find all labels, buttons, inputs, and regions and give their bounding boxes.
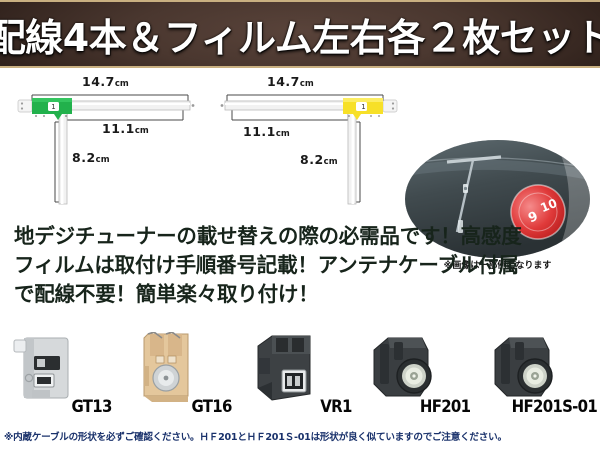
left-dim-top-unit: cm (115, 79, 129, 89)
right-dim-mid: 11.1cm (243, 124, 290, 139)
svg-text:1: 1 (51, 103, 55, 111)
hf201s01-connector-icon (491, 332, 565, 404)
right-dim-mid-value: 11.1 (243, 124, 276, 139)
hf201-label: HF201 (420, 397, 470, 417)
vr1-connector-icon (252, 332, 326, 404)
product-description: 地デジチューナーの載せ替えの際の必需品です！高感度 フィルムは取付け手順番号記載… (14, 222, 590, 309)
connector-vr1: VR1 (248, 330, 348, 425)
description-line-3: で配線不要！簡単楽々取り付け！ (14, 280, 590, 309)
right-dim-top-value: 14.7 (267, 74, 300, 89)
connector-hf201: HF201 (366, 330, 466, 425)
connector-hf201s01: HF201S-01 (487, 330, 587, 425)
left-dim-top: 14.7cm (82, 74, 129, 89)
left-film-drawing: 1 (10, 68, 210, 218)
right-dim-top: 14.7cm (267, 74, 314, 89)
right-dim-side-value: 8.2 (300, 152, 324, 167)
left-dim-mid: 11.1cm (102, 121, 149, 136)
description-line-2: フィルムは取付け手順番号記載！アンテナケーブル付属 (14, 251, 590, 280)
left-dim-side-value: 8.2 (72, 150, 96, 165)
left-dim-side: 8.2cm (72, 150, 110, 165)
left-dim-mid-unit: cm (135, 126, 149, 136)
gt16-label: GT16 (192, 397, 232, 417)
banner-title: 配線4本＆フィルム左右各２枚セット (0, 7, 600, 62)
connector-gt16: GT16 (128, 330, 228, 425)
connector-gt13: GT13 (8, 330, 108, 425)
right-dim-top-unit: cm (300, 79, 314, 89)
gt16-connector-icon (132, 332, 206, 404)
right-dim-side-unit: cm (324, 157, 338, 167)
product-image-canvas: 配線4本＆フィルム左右各２枚セット (0, 0, 600, 450)
left-dim-side-unit: cm (96, 155, 110, 165)
gt13-connector-icon (12, 332, 86, 404)
right-dim-mid-unit: cm (276, 129, 290, 139)
left-dim-mid-value: 11.1 (102, 121, 135, 136)
gt13-label: GT13 (72, 397, 112, 417)
connector-type-row: GT13 GT16 (0, 330, 600, 425)
right-film-drawing: 1 (205, 68, 405, 218)
hf201-connector-icon (370, 332, 444, 404)
svg-text:1: 1 (361, 103, 365, 111)
film-diagram-area: 1 14.7cm 11.1cm 8.2cm (0, 68, 600, 218)
header-banner: 配線4本＆フィルム左右各２枚セット (0, 0, 600, 68)
left-film-diagram: 1 14.7cm 11.1cm 8.2cm (10, 68, 210, 218)
left-dim-top-value: 14.7 (82, 74, 115, 89)
right-film-diagram: 1 14.7cm 11.1cm 8.2cm (205, 68, 405, 218)
description-line-1: 地デジチューナーの載せ替えの際の必需品です！高感度 (14, 222, 590, 251)
hf201s01-label: HF201S-01 (512, 397, 597, 417)
right-dim-side: 8.2cm (300, 152, 338, 167)
cable-shape-warning: ※内蔵ケーブルの形状を必ずご確認ください。ＨＦ201とＨＦ201Ｓ-01は形状が… (4, 429, 598, 443)
vr1-label: VR1 (321, 397, 352, 417)
